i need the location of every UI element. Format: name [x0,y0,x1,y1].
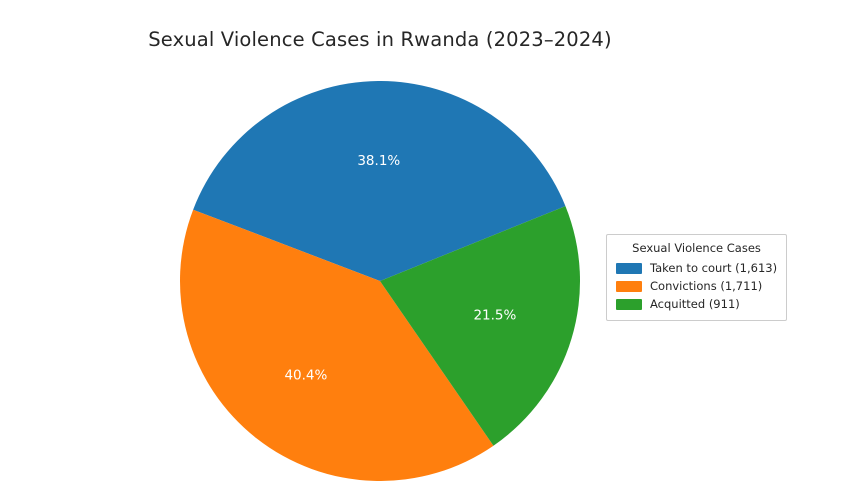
legend-entry-acquitted[interactable]: Acquitted (911) [616,295,777,313]
legend-entry-label: Acquitted (911) [650,295,740,313]
legend-box: Sexual Violence Cases Taken to court (1,… [606,234,787,321]
legend-swatch-icon [616,281,642,292]
legend-entry-list: Taken to court (1,613)Convictions (1,711… [616,259,777,313]
pie-chart-svg: 38.1%40.4%21.5% [180,81,580,481]
legend-swatch-icon [616,263,642,274]
figure-canvas: Sexual Violence Cases in Rwanda (2023–20… [0,0,861,492]
legend-entry-label: Taken to court (1,613) [650,259,777,277]
pie-slice-percent-convictions: 40.4% [284,367,327,383]
pie-slice-percent-acquitted: 21.5% [473,308,516,324]
legend-entry-taken-to-court[interactable]: Taken to court (1,613) [616,259,777,277]
legend-entry-convictions[interactable]: Convictions (1,711) [616,277,777,295]
pie-chart-plot-area: 38.1%40.4%21.5% [180,81,580,481]
legend-swatch-icon [616,299,642,310]
chart-title: Sexual Violence Cases in Rwanda (2023–20… [0,28,760,51]
pie-slice-group [180,81,580,481]
legend-title: Sexual Violence Cases [616,241,777,255]
pie-slice-percent-taken-to-court: 38.1% [357,153,400,169]
legend-entry-label: Convictions (1,711) [650,277,762,295]
